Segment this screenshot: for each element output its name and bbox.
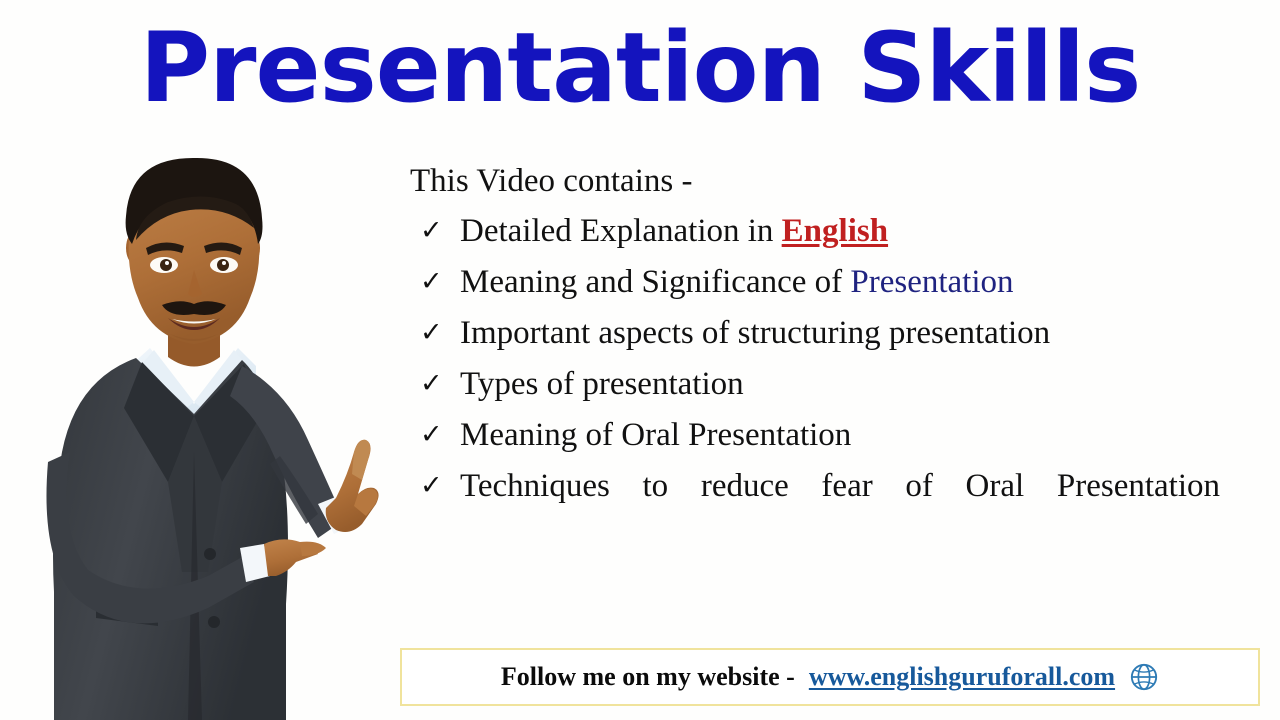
list-item: ✓Meaning of Oral Presentation xyxy=(410,414,1220,457)
globe-icon xyxy=(1129,662,1159,692)
checkmark-icon: ✓ xyxy=(410,465,460,506)
text-run: Meaning and Significance of xyxy=(460,264,850,300)
checkmark-icon: ✓ xyxy=(410,414,460,455)
highlighted-text-run: Presentation xyxy=(850,264,1013,300)
highlighted-text-run: English xyxy=(782,213,888,249)
footer-label: Follow me on my website - xyxy=(501,662,795,692)
website-link[interactable]: www.englishguruforall.com xyxy=(809,662,1115,692)
text-run: Techniques to reduce fear of Oral Presen… xyxy=(460,468,1220,504)
text-run: Detailed Explanation in xyxy=(460,213,782,249)
text-run: Important aspects of structuring present… xyxy=(460,315,1050,351)
text-run: Meaning of Oral Presentation xyxy=(460,417,851,453)
content-list: This Video contains - ✓Detailed Explanat… xyxy=(410,160,1220,550)
list-item-label: Important aspects of structuring present… xyxy=(460,312,1220,355)
list-item-label: Types of presentation xyxy=(460,363,1220,406)
list-item: ✓Important aspects of structuring presen… xyxy=(410,312,1220,355)
checkmark-icon: ✓ xyxy=(410,261,460,302)
list-item: ✓Techniques to reduce fear of Oral Prese… xyxy=(410,465,1220,551)
list-item-label: Meaning of Oral Presentation xyxy=(460,414,1220,457)
page-title: Presentation Skills xyxy=(0,18,1280,119)
checkmark-icon: ✓ xyxy=(410,312,460,353)
website-footer-bar[interactable]: Follow me on my website - www.englishgur… xyxy=(400,648,1260,706)
list-item: ✓Detailed Explanation in English xyxy=(410,210,1220,253)
list-item-label: Meaning and Significance of Presentation xyxy=(460,261,1220,304)
intro-line: This Video contains - xyxy=(410,160,1220,202)
list-item-label: Techniques to reduce fear of Oral Presen… xyxy=(460,465,1220,551)
list-item: ✓Types of presentation xyxy=(410,363,1220,406)
bullet-list: ✓Detailed Explanation in English✓Meaning… xyxy=(410,210,1220,550)
checkmark-icon: ✓ xyxy=(410,363,460,404)
list-item: ✓Meaning and Significance of Presentatio… xyxy=(410,261,1220,304)
text-run: Types of presentation xyxy=(460,366,744,402)
presenter-photo xyxy=(18,152,418,720)
slide-canvas: Presentation Skills xyxy=(0,0,1280,720)
checkmark-icon: ✓ xyxy=(410,210,460,251)
list-item-label: Detailed Explanation in English xyxy=(460,210,1220,253)
